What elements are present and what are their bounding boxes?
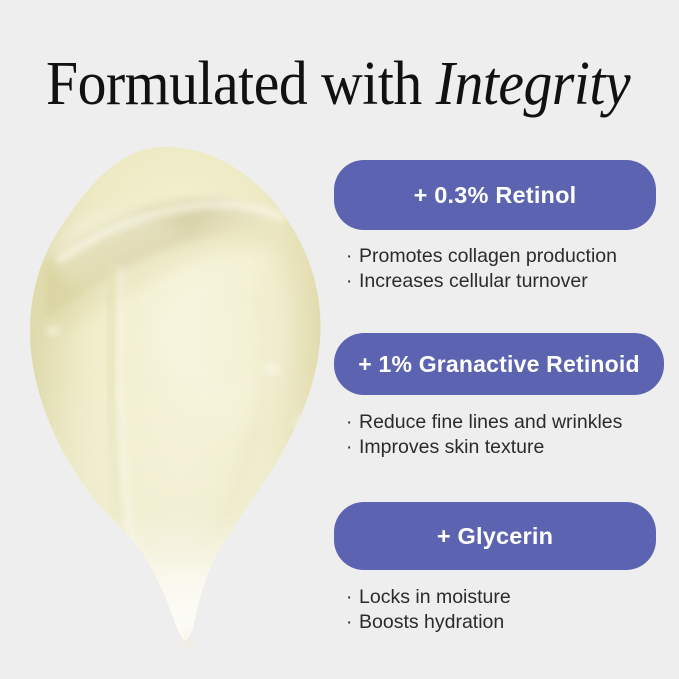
ingredient-group-granactive-retinoid: + 1% Granactive Retinoid · Reduce fine l… [334, 333, 664, 460]
bullet-dot-icon: · [346, 269, 359, 294]
ingredient-badge-retinol[interactable]: + 0.3% Retinol [334, 160, 656, 230]
ingredient-badge-granactive-retinoid[interactable]: + 1% Granactive Retinoid [334, 333, 664, 395]
bullet-dot-icon: · [346, 585, 359, 610]
bullet-dot-icon: · [346, 410, 359, 435]
list-item: · Promotes collagen production [346, 244, 656, 269]
benefit-list-granactive-retinoid: · Reduce fine lines and wrinkles · Impro… [346, 410, 664, 460]
benefit-text: Promotes collagen production [359, 244, 617, 269]
list-item: · Reduce fine lines and wrinkles [346, 410, 664, 435]
bullet-dot-icon: · [346, 244, 359, 269]
benefit-text: Reduce fine lines and wrinkles [359, 410, 622, 435]
benefit-text: Improves skin texture [359, 435, 544, 460]
benefit-text: Increases cellular turnover [359, 269, 588, 294]
benefit-list-glycerin: · Locks in moisture · Boosts hydration [346, 585, 656, 635]
page-title-regular: Formulated with [46, 50, 436, 118]
list-item: · Improves skin texture [346, 435, 664, 460]
benefit-text: Locks in moisture [359, 585, 511, 610]
ingredient-group-retinol: + 0.3% Retinol · Promotes collagen produ… [334, 160, 656, 294]
benefit-text: Boosts hydration [359, 610, 504, 635]
list-item: · Locks in moisture [346, 585, 656, 610]
ingredient-group-glycerin: + Glycerin · Locks in moisture · Boosts … [334, 502, 656, 635]
page-title: Formulated with Integrity [46, 48, 600, 120]
ingredient-badge-glycerin[interactable]: + Glycerin [334, 502, 656, 570]
page-title-italic: Integrity [436, 50, 630, 118]
bullet-dot-icon: · [346, 435, 359, 460]
promo-graphic: Formulated with Integrity [0, 0, 679, 679]
benefit-list-retinol: · Promotes collagen production · Increas… [346, 244, 656, 294]
list-item: · Increases cellular turnover [346, 269, 656, 294]
cream-swatch [10, 135, 335, 650]
list-item: · Boosts hydration [346, 610, 656, 635]
bullet-dot-icon: · [346, 610, 359, 635]
